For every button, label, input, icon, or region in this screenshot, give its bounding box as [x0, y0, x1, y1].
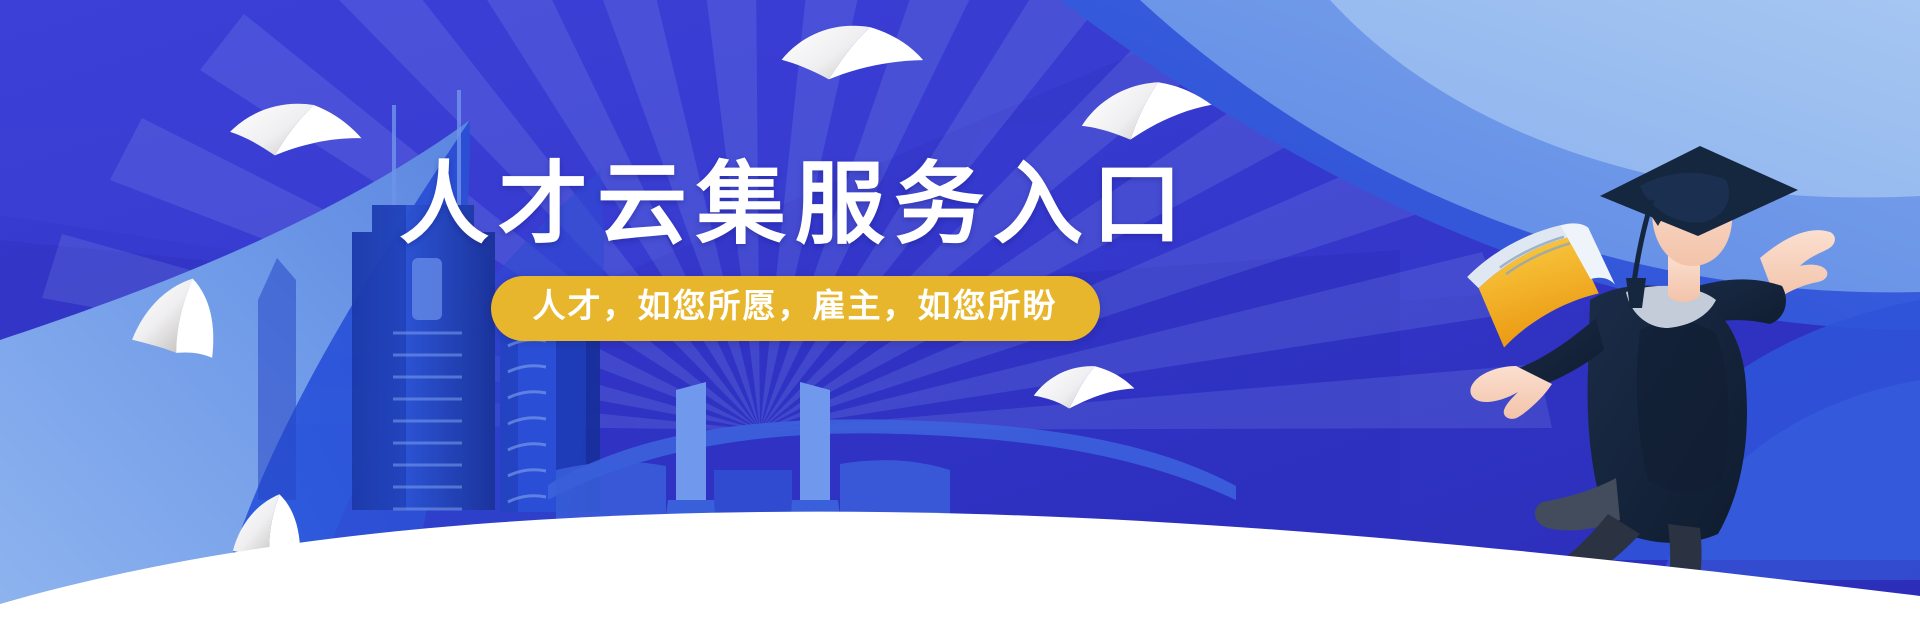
subtitle-badge: 人才，如您所愿，雇主，如您所盼	[491, 276, 1100, 341]
page-title: 人才云集服务入口	[0, 160, 1590, 250]
subtitle-pill-wrapper: 人才，如您所愿，雇主，如您所盼	[0, 276, 1590, 341]
hero-banner: 人才云集服务入口 人才，如您所愿，雇主，如您所盼	[0, 0, 1920, 630]
